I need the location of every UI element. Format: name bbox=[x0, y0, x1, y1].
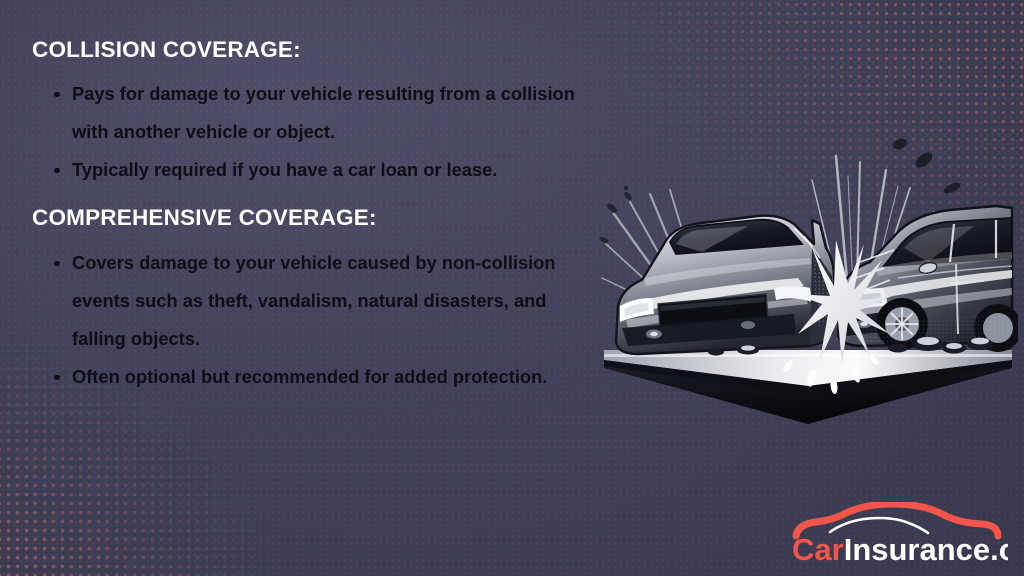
list-item: Pays for damage to your vehicle resultin… bbox=[52, 75, 592, 151]
ground-platform bbox=[604, 350, 1012, 424]
list-item: Covers damage to your vehicle caused by … bbox=[52, 244, 592, 358]
bullet-list-collision: Pays for damage to your vehicle resultin… bbox=[30, 75, 600, 189]
content-column: COLLISION COVERAGE: Pays for damage to y… bbox=[0, 0, 600, 576]
list-item: Typically required if you have a car loa… bbox=[52, 151, 592, 189]
list-item: Often optional but recommended for added… bbox=[52, 358, 592, 396]
svg-text:CarInsurance.org: CarInsurance.org bbox=[792, 532, 1008, 567]
section-heading-comprehensive: COMPREHENSIVE COVERAGE: bbox=[32, 206, 600, 231]
carinsurance-org-logo[interactable]: CarInsurance.org bbox=[786, 502, 1008, 568]
bullet-list-comprehensive: Covers damage to your vehicle caused by … bbox=[30, 244, 600, 396]
logo-text-rest: Insurance.org bbox=[844, 532, 1008, 567]
car-collision-illustration bbox=[598, 128, 1018, 458]
logo-text-accent: Car bbox=[792, 532, 844, 567]
slide-canvas: COLLISION COVERAGE: Pays for damage to y… bbox=[0, 0, 1024, 576]
section-heading-collision: COLLISION COVERAGE: bbox=[32, 38, 600, 63]
